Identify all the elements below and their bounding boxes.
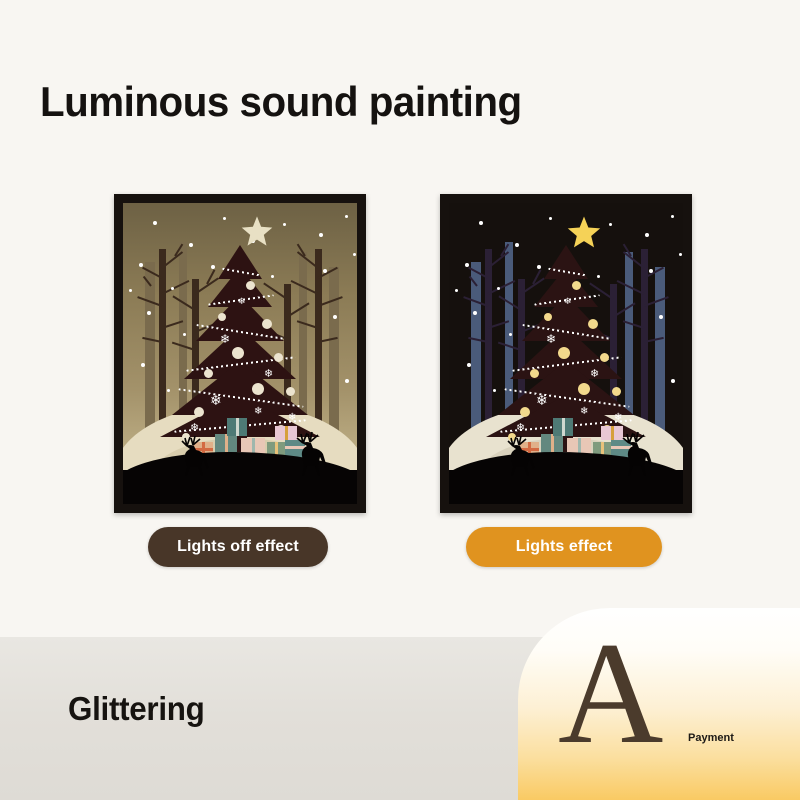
footer-headline: Glittering — [68, 690, 204, 728]
payment-label: Payment — [688, 732, 734, 744]
lights-effect-button[interactable]: Lights effect — [466, 527, 662, 567]
deer-silhouette — [293, 428, 331, 478]
painting-canvas-lights-on: ❄ ❄ ❄ ❄ ❄ ❄ ❄ — [449, 203, 683, 504]
deer-silhouette — [619, 428, 657, 478]
painting-frame-lights-on[interactable]: ❄ ❄ ❄ ❄ ❄ ❄ ❄ — [440, 194, 692, 513]
lights-off-effect-label: Lights off effect — [177, 538, 299, 556]
page-title: Luminous sound painting — [40, 78, 522, 126]
painting-canvas-lights-off: ❄ ❄ ❄ ❄ ❄ ❄ ❄ — [123, 203, 357, 504]
deer-silhouette — [505, 432, 541, 478]
payment-monogram: A — [558, 620, 663, 766]
gift-box — [553, 418, 573, 436]
painting-frame-lights-off[interactable]: ❄ ❄ ❄ ❄ ❄ ❄ ❄ — [114, 194, 366, 513]
lights-effect-label: Lights effect — [516, 538, 612, 556]
deer-silhouette — [179, 432, 215, 478]
gift-box — [227, 418, 247, 436]
promo-banner: Luminous sound painting — [0, 0, 800, 800]
payment-panel[interactable]: A Payment — [518, 608, 800, 800]
lights-off-effect-button[interactable]: Lights off effect — [148, 527, 328, 567]
